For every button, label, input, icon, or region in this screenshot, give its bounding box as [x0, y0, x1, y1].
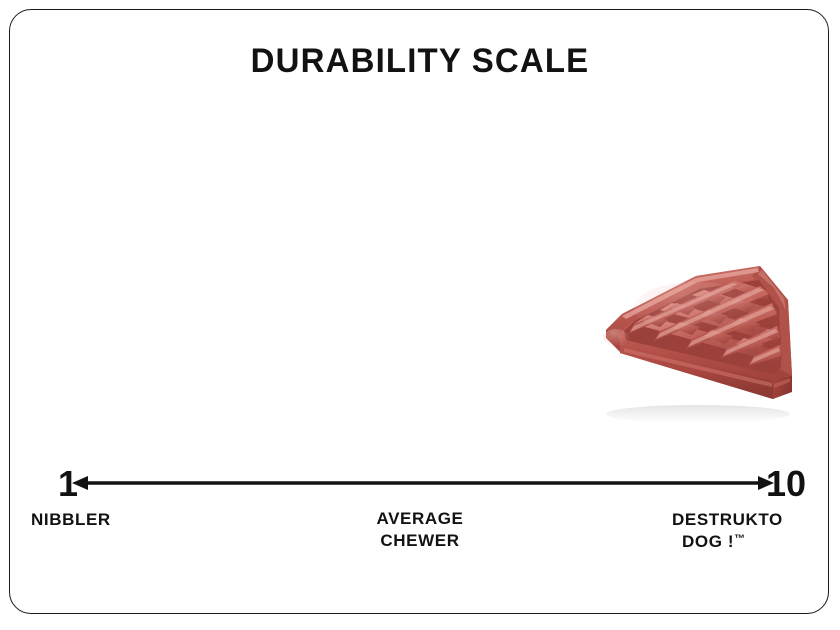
pie-slice-toy-image	[576, 248, 832, 430]
product-image-stage	[576, 248, 832, 430]
scale-caption-destrukto-dog: DESTRUKTO DOG !™	[672, 509, 822, 553]
scale-max-value: 10	[766, 466, 806, 502]
durability-scale-arrow	[70, 468, 776, 498]
durability-scale-graphic: DURABILITY SCALE	[0, 0, 840, 630]
scale-min-value: 1	[58, 466, 78, 502]
scale-caption-nibbler: NIBBLER	[31, 509, 111, 531]
destrukto-dog-text: DOG !	[682, 532, 734, 551]
destrukto-dog-line-2: DOG !™	[682, 531, 822, 553]
average-chewer-line-2: CHEWER	[300, 530, 540, 552]
destrukto-dog-line-1: DESTRUKTO	[672, 510, 783, 529]
average-chewer-line-1: AVERAGE	[300, 508, 540, 530]
trademark-symbol: ™	[734, 533, 745, 545]
page-title: DURABILITY SCALE	[13, 44, 828, 78]
scale-caption-average-chewer: AVERAGE CHEWER	[300, 508, 540, 552]
